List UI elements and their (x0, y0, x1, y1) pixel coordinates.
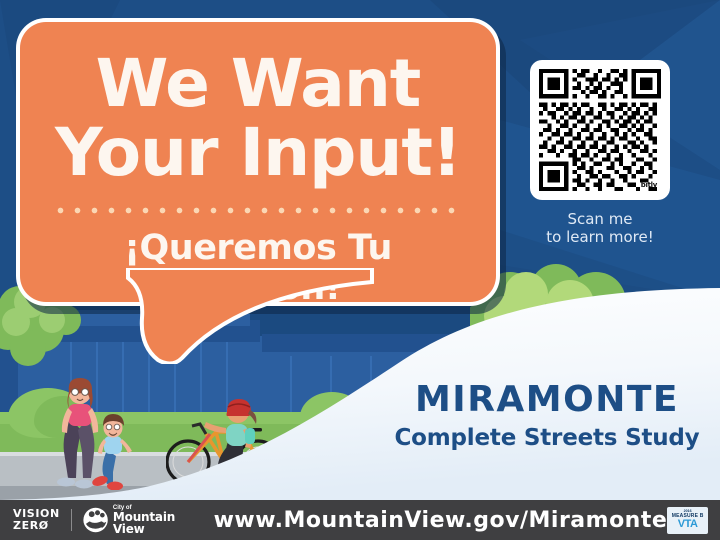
headline-line-2: Your Input! (46, 121, 470, 184)
project-title-block: MIRAMONTE Complete Streets Study (392, 382, 702, 451)
speech-bubble: We Want Your Input! ¡Queremos Tu Opinión… (20, 22, 496, 302)
qr-brand-label: bitly (641, 181, 657, 189)
qr-caption-line-1: Scan me (530, 211, 670, 229)
poster-canvas: We Want Your Input! ¡Queremos Tu Opinión… (0, 0, 720, 540)
qr-code-card[interactable]: bitly (530, 60, 670, 200)
vta-measure-b-logo: 2016 MEASURE B VTA (667, 507, 708, 534)
qr-code-icon[interactable] (539, 69, 661, 191)
qr-caption: Scan me to learn more! (530, 211, 670, 246)
project-name: MIRAMONTE (392, 382, 702, 418)
footer-divider (71, 509, 72, 531)
city-logo-big-text: Mountain View (113, 511, 208, 535)
qr-code-block[interactable]: bitly Scan me to learn more! (530, 60, 670, 246)
dotted-divider (52, 207, 464, 214)
website-url[interactable]: www.MountainView.gov/Miramonte (208, 508, 668, 533)
vta-name: VTA (678, 519, 698, 530)
footer-bar: VISION ZERØ City of Mountain View www.Mo… (0, 500, 720, 540)
headline-line-1: We Want (46, 52, 470, 115)
vision-zero-line-2: ZERØ (13, 520, 60, 532)
project-subtitle: Complete Streets Study (392, 425, 702, 451)
vision-zero-logo: VISION ZERØ (13, 508, 60, 531)
qr-caption-line-2: to learn more! (530, 229, 670, 247)
mountain-view-seal-icon (83, 507, 108, 533)
city-of-mountain-view-logo: City of Mountain View (83, 505, 208, 536)
city-logo-text: City of Mountain View (113, 505, 208, 536)
